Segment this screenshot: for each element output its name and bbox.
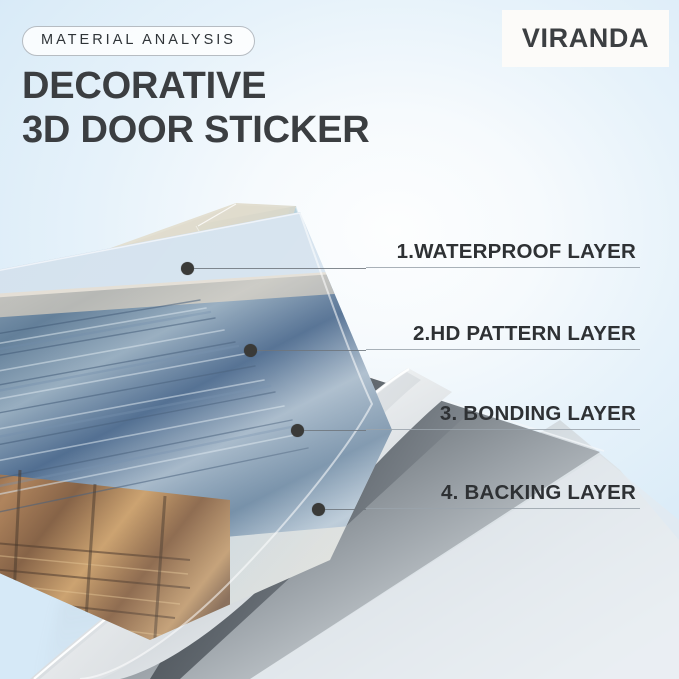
brand-logo-text: VIRANDA: [522, 23, 649, 54]
page-title: DECORATIVE 3D DOOR STICKER: [22, 68, 369, 149]
callout-rule-4: [366, 508, 640, 509]
callout-1: 1.WATERPROOF LAYER: [366, 240, 640, 268]
material-analysis-badge: MATERIAL ANALYSIS: [22, 26, 255, 56]
callout-leader-4: [325, 509, 366, 510]
callout-label-4: 4. BACKING LAYER: [366, 481, 640, 508]
callout-label-1: 1.WATERPROOF LAYER: [366, 240, 640, 267]
callout-label-3: 3. BONDING LAYER: [366, 402, 640, 429]
callout-4: 4. BACKING LAYER: [366, 481, 640, 509]
callout-leader-3: [304, 430, 366, 431]
title-line-1: DECORATIVE: [22, 65, 266, 107]
callout-dot-3: [291, 424, 304, 437]
callout-rule-2: [366, 349, 640, 350]
callout-dot-4: [312, 503, 325, 516]
callout-leader-1: [194, 268, 366, 269]
callout-rule-3: [366, 429, 640, 430]
callout-rule-1: [366, 267, 640, 268]
poster-canvas: MATERIAL ANALYSIS DECORATIVE 3D DOOR STI…: [0, 0, 679, 679]
callout-leader-2: [257, 350, 366, 351]
callout-2: 2.HD PATTERN LAYER: [366, 322, 640, 350]
brand-logo: VIRANDA: [502, 10, 669, 67]
title-line-2: 3D DOOR STICKER: [22, 112, 369, 150]
callout-3: 3. BONDING LAYER: [366, 402, 640, 430]
callout-dot-2: [244, 344, 257, 357]
callout-label-2: 2.HD PATTERN LAYER: [366, 322, 640, 349]
callout-dot-1: [181, 262, 194, 275]
